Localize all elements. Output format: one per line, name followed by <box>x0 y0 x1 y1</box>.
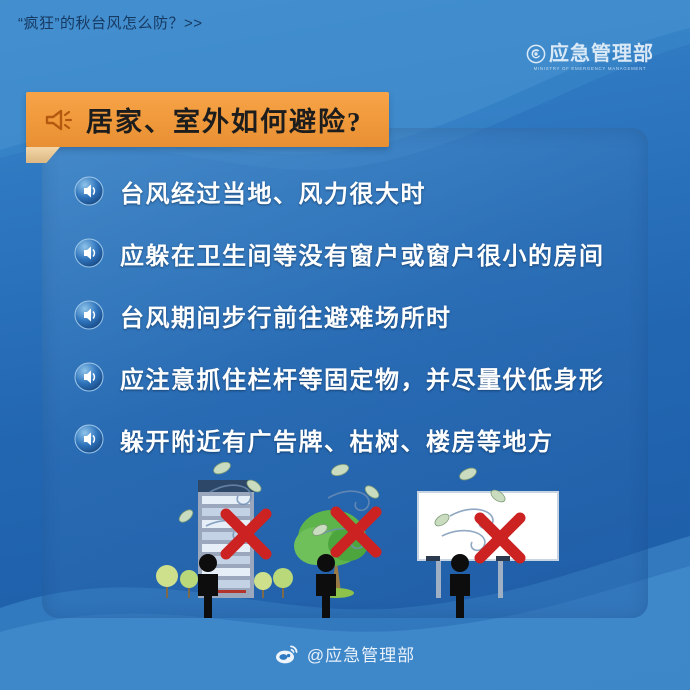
building-scene <box>156 462 293 618</box>
footer-handle: @应急管理部 <box>307 641 415 666</box>
megaphone-icon <box>44 107 74 133</box>
speaker-icon <box>74 238 104 268</box>
ministry-emblem-icon <box>526 44 546 64</box>
list-item-text: 台风期间步行前往避难场所时 <box>120 298 452 333</box>
ministry-logo: 应急管理部 MINISTRY OF EMERGENCY MANAGEMENT <box>526 44 654 71</box>
shrub-group-right <box>254 568 293 598</box>
list-item-text: 应躲在卫生间等没有窗户或窗户很小的房间 <box>120 236 605 271</box>
list-item: 台风经过当地、风力很大时 <box>74 160 634 222</box>
speaker-icon <box>74 176 104 206</box>
billboard-scene <box>418 466 558 618</box>
person-silhouette <box>450 554 470 618</box>
list-item: 应躲在卫生间等没有窗户或窗户很小的房间 <box>74 222 634 284</box>
list-item-text: 躲开附近有广告牌、枯树、楼房等地方 <box>120 422 554 457</box>
list-item-text: 应注意抓住栏杆等固定物，并尽量伏低身形 <box>120 360 605 395</box>
person-silhouette <box>316 554 336 618</box>
page-caption: “疯狂”的秋台风怎么防？>> <box>18 12 203 33</box>
footer: @应急管理部 <box>0 641 690 666</box>
speaker-icon <box>74 424 104 454</box>
tree-scene <box>294 462 381 618</box>
poster-canvas: “疯狂”的秋台风怎么防？>> 应急管理部 MINISTRY OF EMERGEN… <box>0 0 690 690</box>
list-item: 台风期间步行前往避难场所时 <box>74 284 634 346</box>
headline-text: 居家、室外如何避险? <box>86 100 363 139</box>
list-item-text: 台风经过当地、风力很大时 <box>120 174 426 209</box>
speaker-icon <box>74 300 104 330</box>
list-item: 应注意抓住栏杆等固定物，并尽量伏低身形 <box>74 346 634 408</box>
shrub-group-left <box>156 565 198 598</box>
headline-banner: 居家、室外如何避险? <box>26 92 389 147</box>
list-item: 躲开附近有广告牌、枯树、楼房等地方 <box>74 408 634 470</box>
advice-list: 台风经过当地、风力很大时 应躲在卫生间等没有窗户或窗户很小的房间 台风期间步行前… <box>74 160 634 470</box>
person-silhouette <box>198 554 218 618</box>
hazard-illustration <box>150 462 570 620</box>
ministry-logo-subtitle: MINISTRY OF EMERGENCY MANAGEMENT <box>534 66 647 72</box>
weibo-icon <box>275 644 299 664</box>
speaker-icon <box>74 362 104 392</box>
ministry-logo-name: 应急管理部 <box>549 44 654 64</box>
